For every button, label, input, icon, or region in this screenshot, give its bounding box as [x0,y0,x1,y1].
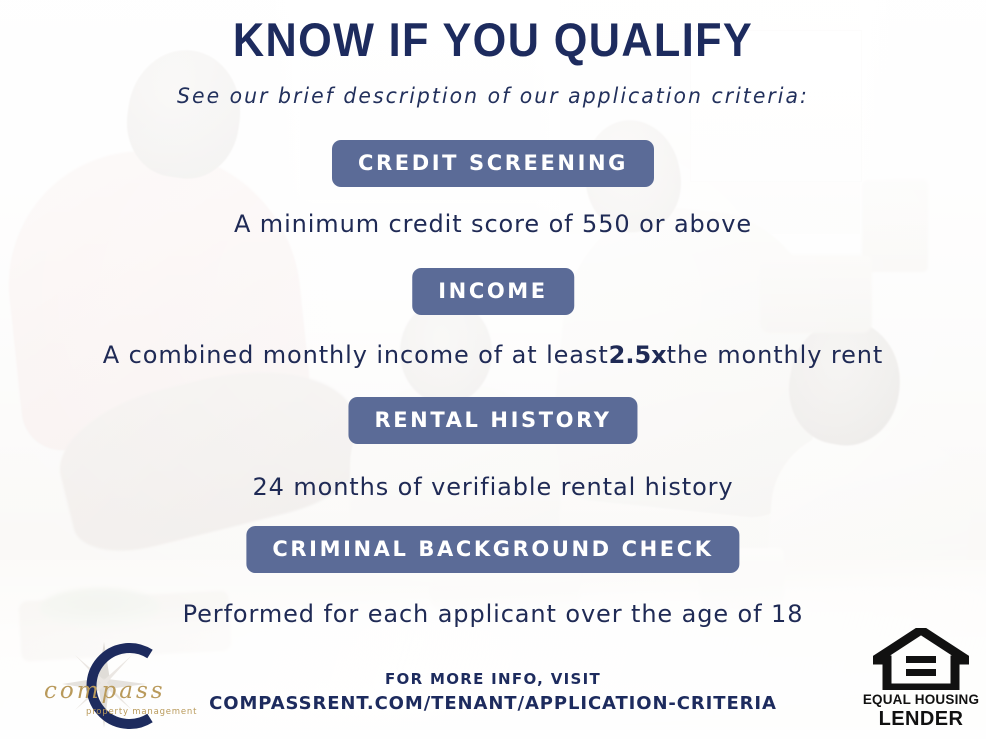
income-multiplier: 2.5x [609,341,667,369]
compass-wordmark: compass [44,678,166,704]
equal-housing-label-line-2: LENDER [862,708,980,730]
criteria-badge-income: INCOME [412,268,574,315]
qualification-criteria-poster: KNOW IF YOU QUALIFY See our brief descri… [0,0,986,739]
criteria-description-income: A combined monthly income of at least2.5… [0,341,986,369]
income-text-after: the monthly rent [667,341,884,369]
equal-housing-house-icon [873,628,969,690]
compass-logo-graphic: compass property management [42,636,212,736]
criteria-badge-credit-screening: CREDIT SCREENING [332,140,654,187]
criteria-badge-criminal-background-check: CRIMINAL BACKGROUND CHECK [246,526,739,573]
page-subtitle: See our brief description of our applica… [15,84,971,108]
equal-housing-lender-logo: EQUAL HOUSING LENDER [862,628,980,730]
page-title: KNOW IF YOU QUALIFY [39,15,946,64]
criteria-description-rental-history: 24 months of verifiable rental history [0,473,986,501]
criteria-badge-rental-history: RENTAL HISTORY [348,397,637,444]
poster-content: KNOW IF YOU QUALIFY See our brief descri… [0,0,986,739]
compass-tagline: property management [86,707,197,717]
compass-logo: compass property management [42,636,212,736]
criteria-description-credit-screening: A minimum credit score of 550 or above [0,210,986,238]
equal-housing-label-line-1: EQUAL HOUSING [862,692,980,708]
income-text-before: A combined monthly income of at least [103,341,609,369]
criteria-description-criminal-background-check: Performed for each applicant over the ag… [0,600,986,628]
